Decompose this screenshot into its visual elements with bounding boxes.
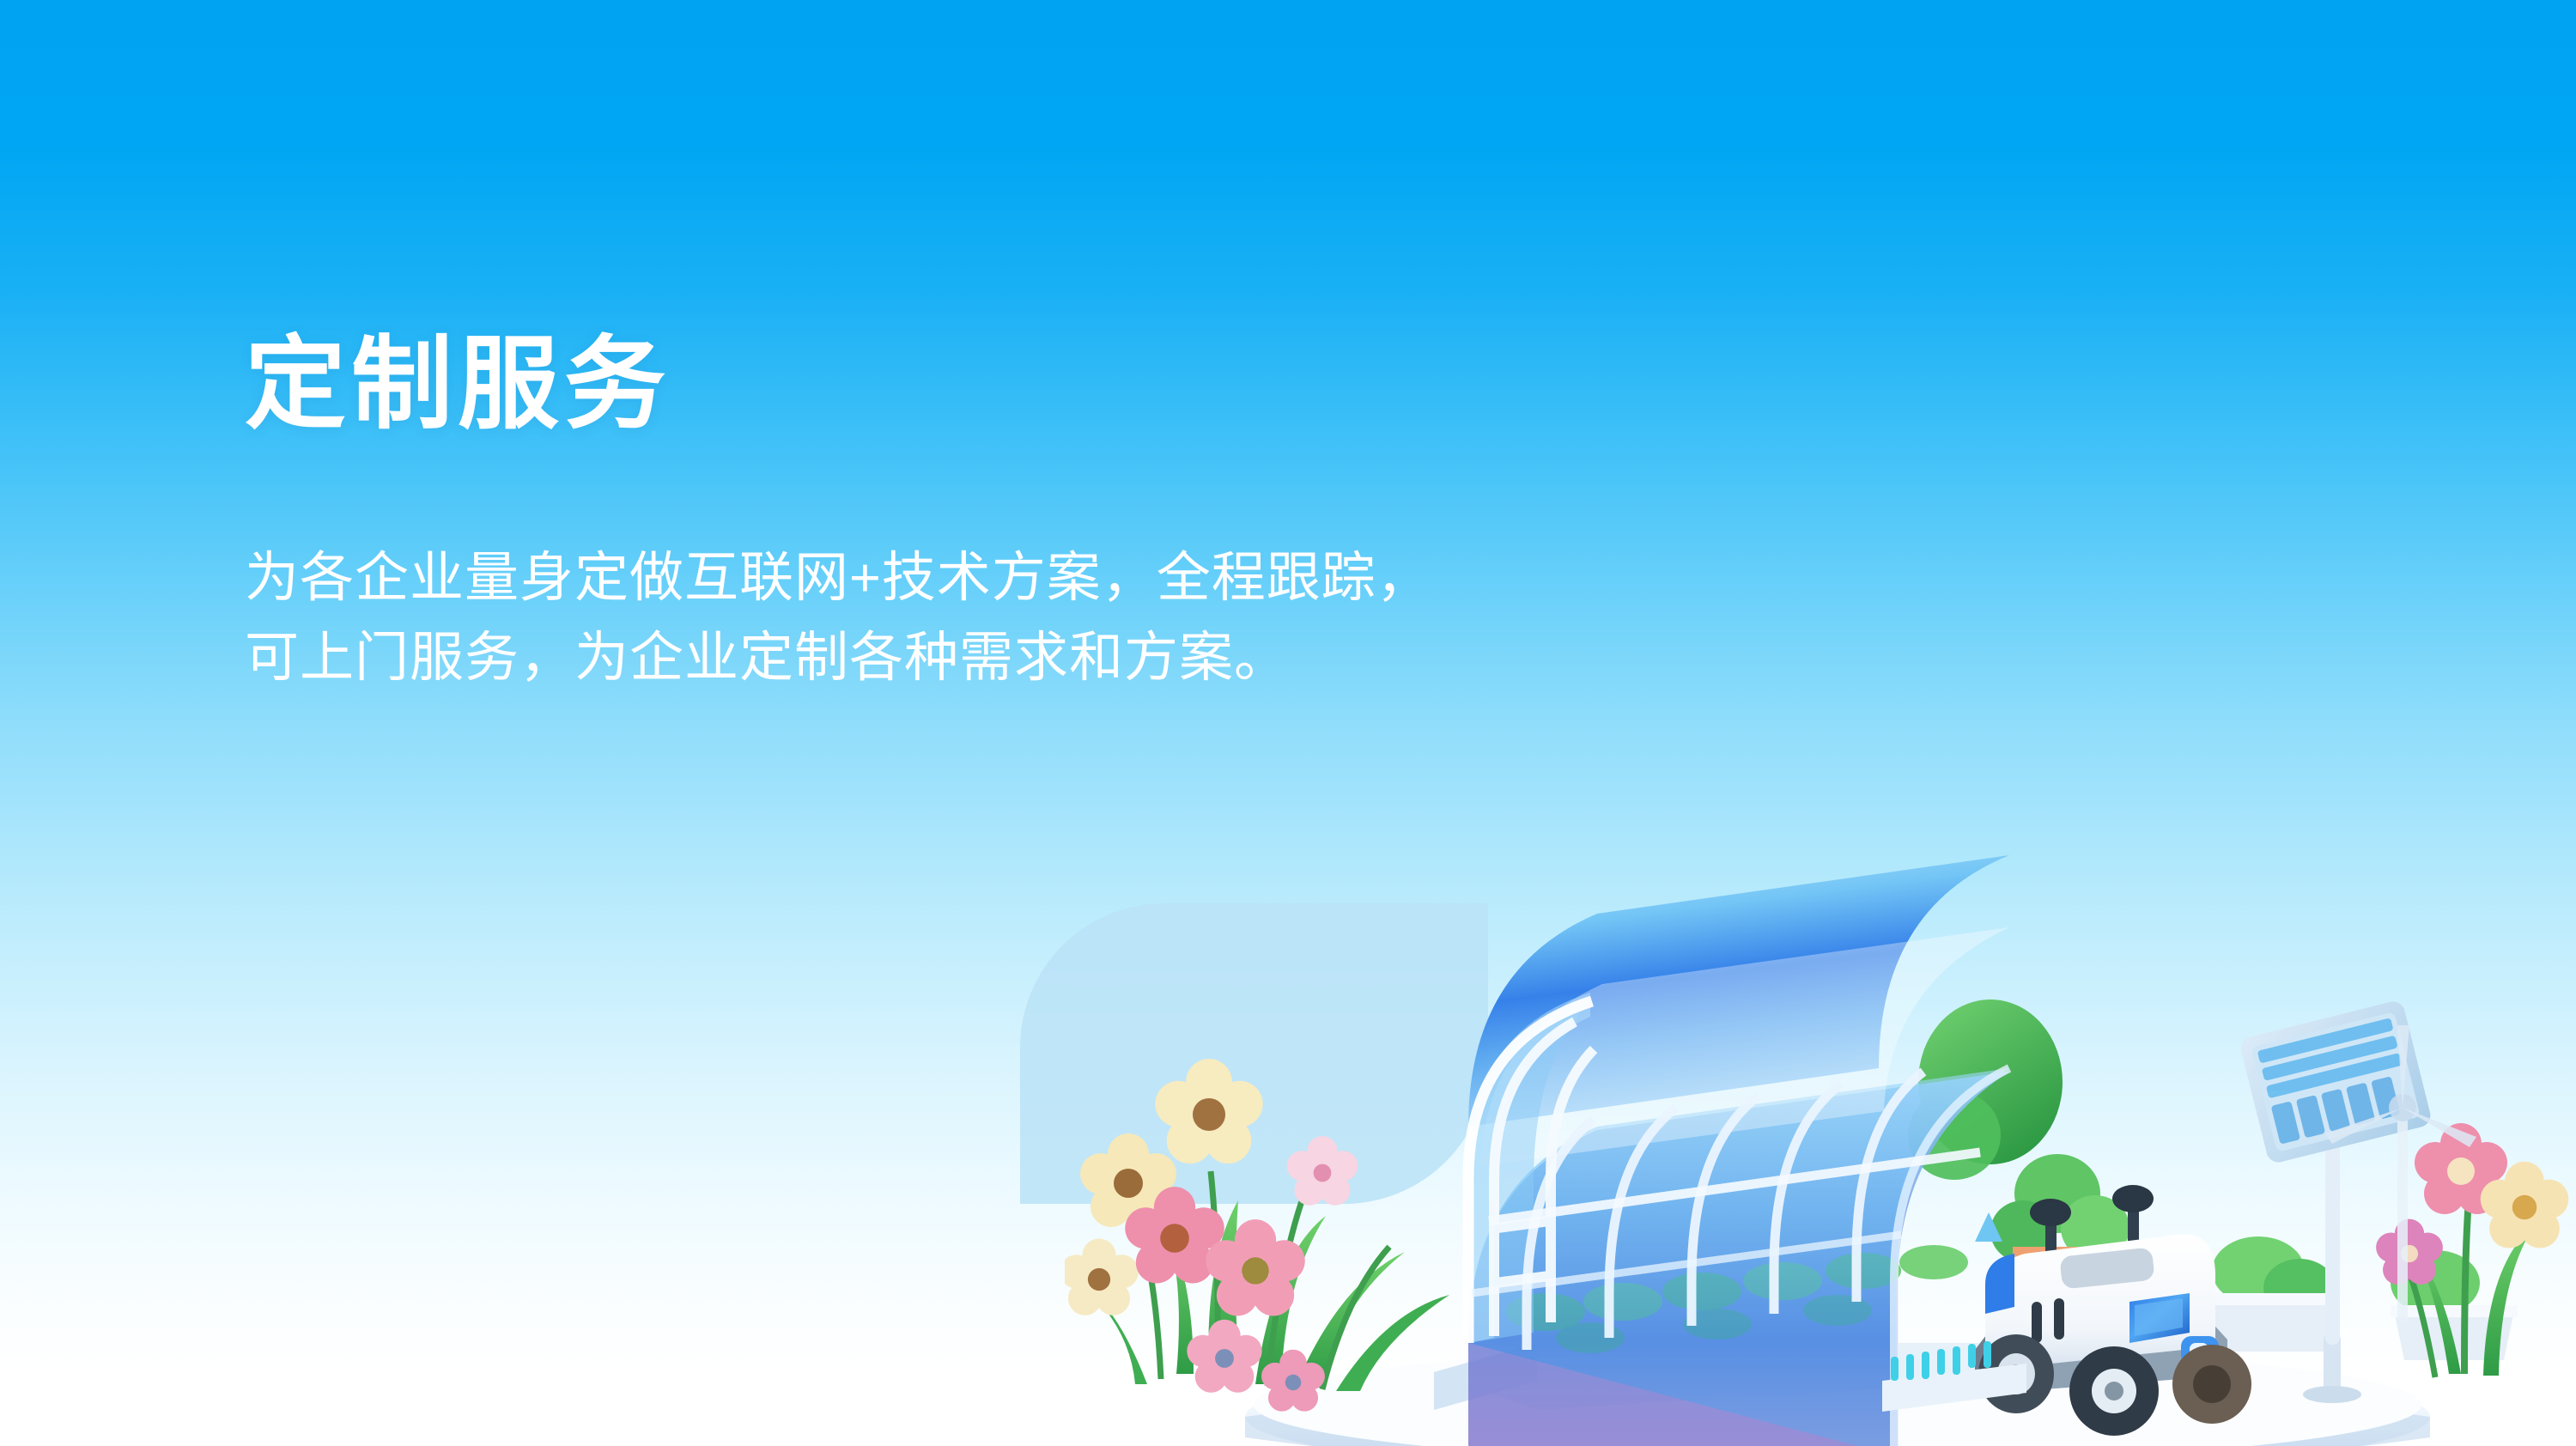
page-description-line-2: 可上门服务，为企业定制各种需求和方案。: [245, 618, 2117, 698]
hero-text-block: 定制服务 为各企业量身定做互联网+技术方案，全程跟踪， 可上门服务，为企业定制各…: [245, 326, 2134, 698]
illustration-scene: [1065, 824, 2576, 1446]
page-title: 定制服务: [245, 326, 2134, 444]
page-description: 为各企业量身定做互联网+技术方案，全程跟踪， 可上门服务，为企业定制各种需求和方…: [245, 538, 2117, 698]
page-description-line-1: 为各企业量身定做互联网+技术方案，全程跟踪，: [245, 538, 2117, 618]
greenhouse: [1434, 855, 2018, 1446]
flowers: [1065, 1059, 1449, 1412]
hero-banner: 定制服务 为各企业量身定做互联网+技术方案，全程跟踪， 可上门服务，为企业定制各…: [0, 0, 2576, 1446]
planter-box: [2203, 1236, 2518, 1360]
